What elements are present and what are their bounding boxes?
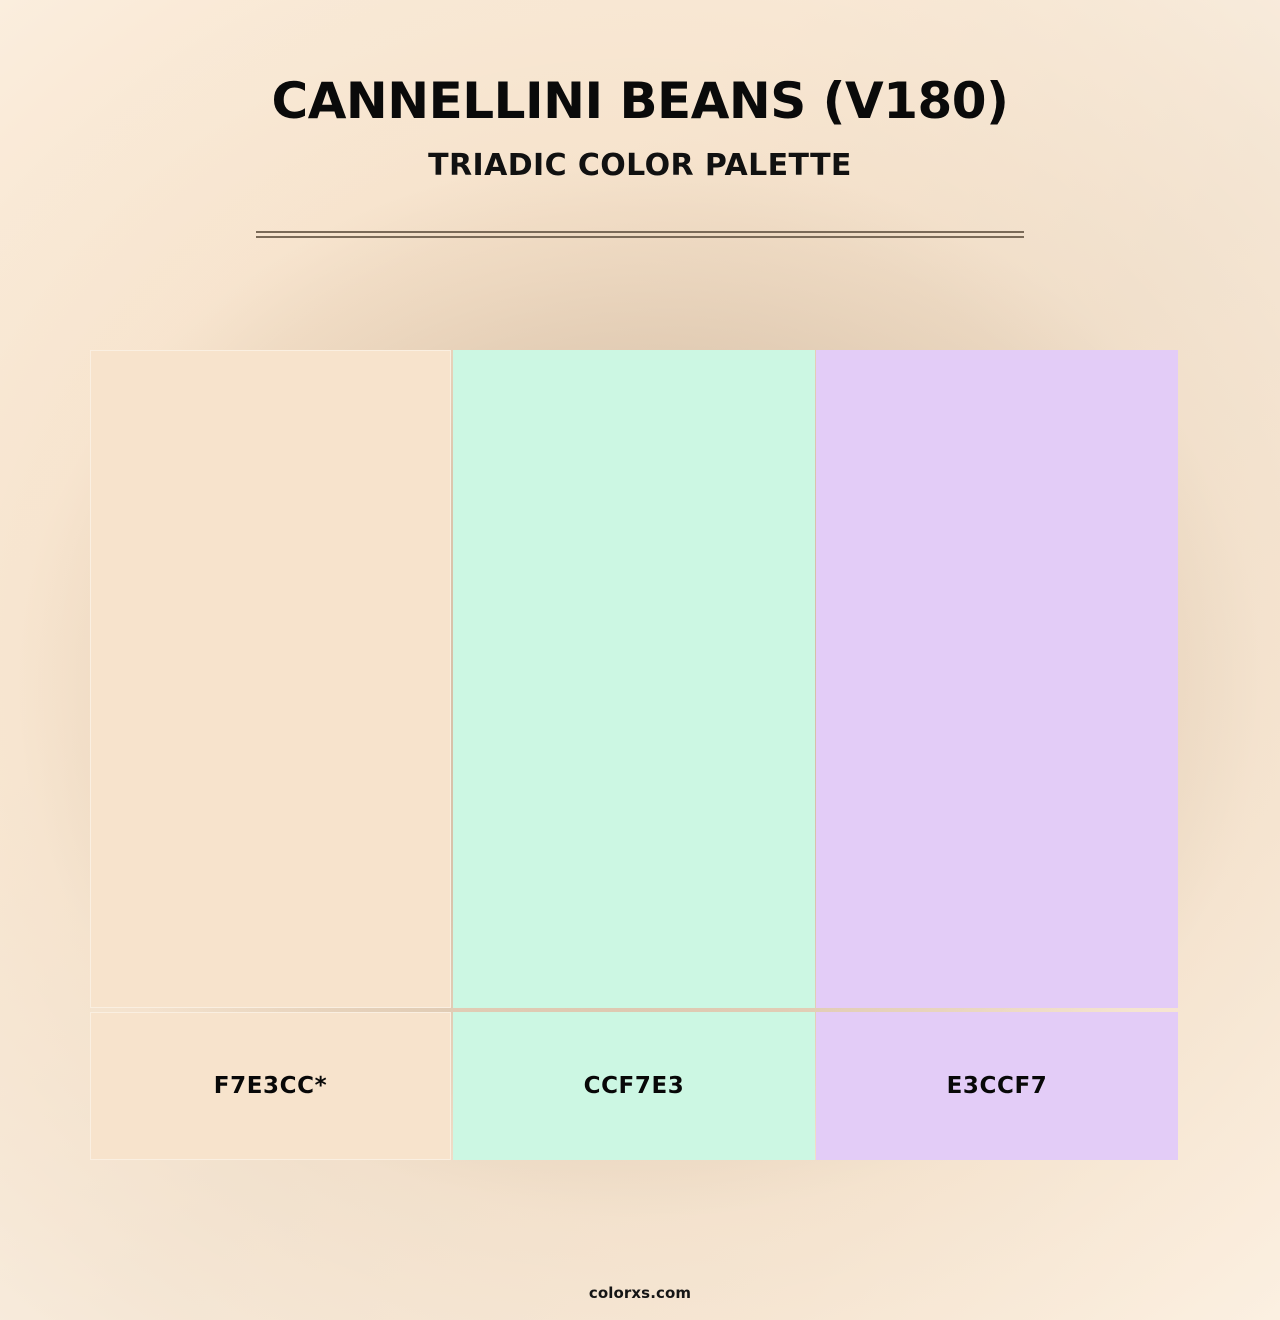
swatch-label-row: F7E3CC* CCF7E3 E3CCF7	[90, 1012, 1178, 1160]
hex-code-label: E3CCF7	[947, 1073, 1048, 1099]
color-label-cell[interactable]: CCF7E3	[453, 1012, 815, 1160]
header: CANNELLINI BEANS (V180) TRIADIC COLOR PA…	[0, 0, 1280, 184]
color-swatch[interactable]	[90, 350, 451, 1008]
hex-code-label: F7E3CC*	[214, 1073, 327, 1099]
palette-page: CANNELLINI BEANS (V180) TRIADIC COLOR PA…	[0, 0, 1280, 1320]
divider-line-bottom	[256, 236, 1024, 238]
color-label-cell[interactable]: E3CCF7	[816, 1012, 1178, 1160]
hex-code-label: CCF7E3	[584, 1073, 685, 1099]
color-palette: F7E3CC* CCF7E3 E3CCF7	[90, 350, 1178, 1160]
page-subtitle: TRIADIC COLOR PALETTE	[0, 130, 1280, 184]
color-swatch[interactable]	[816, 350, 1178, 1008]
color-label-cell[interactable]: F7E3CC*	[90, 1012, 451, 1160]
footer: colorxs.com	[0, 1283, 1280, 1302]
site-credit: colorxs.com	[589, 1284, 691, 1302]
color-swatch[interactable]	[453, 350, 815, 1008]
swatch-row	[90, 350, 1178, 1008]
page-title: CANNELLINI BEANS (V180)	[0, 0, 1280, 130]
header-divider	[256, 231, 1024, 238]
